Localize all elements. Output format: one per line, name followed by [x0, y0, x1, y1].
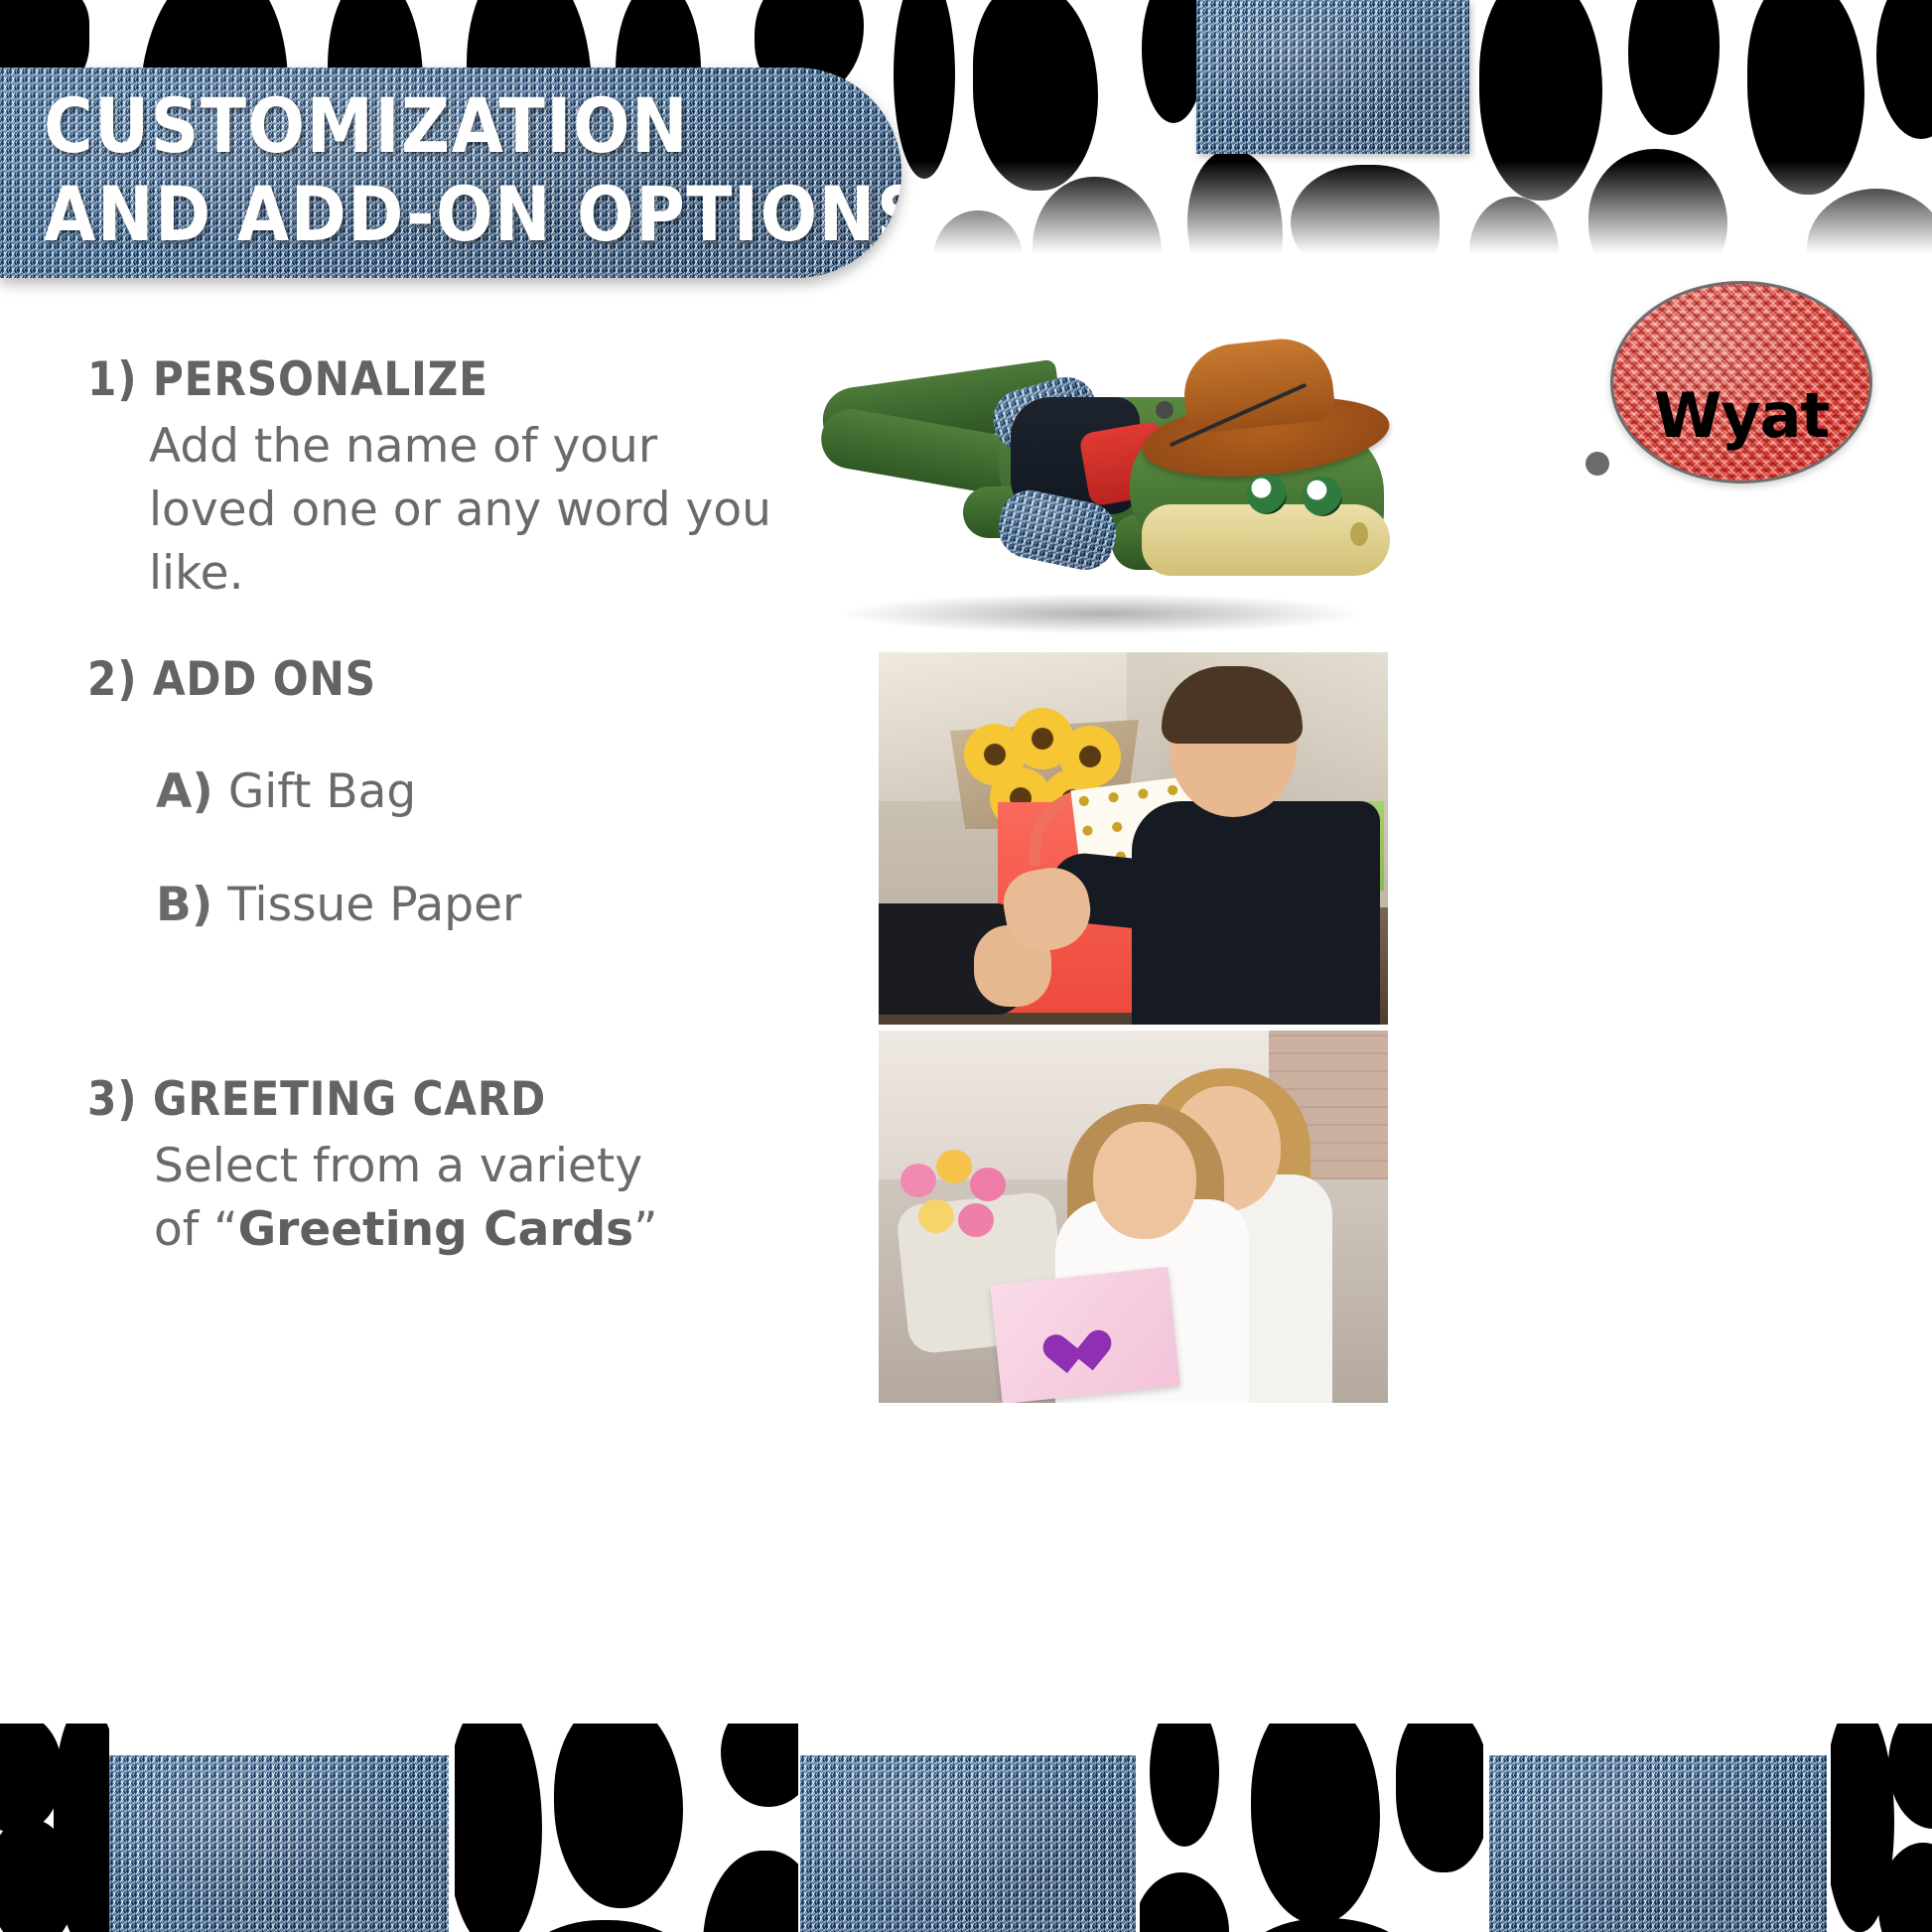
- daughter-head: [1093, 1122, 1196, 1239]
- section-3-body-line2: of “Greeting Cards”: [154, 1198, 869, 1262]
- section-1-title: 1) PERSONALIZE: [87, 352, 488, 407]
- section-3-body-line2-prefix: of “: [154, 1202, 238, 1257]
- gift-bag-photo: [879, 652, 1388, 1025]
- badge-pointer-dot: [1586, 452, 1609, 476]
- header-title: CUSTOMIZATION AND ADD-ON OPTIONS: [44, 81, 874, 258]
- section-3-body-line2-bold: Greeting Cards: [238, 1202, 634, 1257]
- bottom-cow-panel-1: [0, 1724, 109, 1932]
- plush-nostril: [1350, 522, 1368, 546]
- bottom-border: [0, 1724, 1932, 1932]
- section-3-body-line2-suffix: ”: [633, 1202, 657, 1257]
- addon-item-tissue-paper-label: Tissue Paper: [227, 878, 521, 932]
- section-1-body-line2: loved one or any word you like.: [149, 479, 864, 606]
- section-2-title: 2) ADD ONS: [87, 652, 376, 707]
- hat-cord-bead: [1156, 401, 1173, 419]
- section-1-body-line1: Add the name of your: [149, 415, 864, 479]
- addon-item-tissue-paper: B) Tissue Paper: [156, 878, 521, 932]
- tulip: [918, 1199, 954, 1233]
- bottom-denim-panel-2: [800, 1755, 1136, 1932]
- plush-shadow: [844, 594, 1360, 633]
- personalized-name-text: Wyat: [1654, 385, 1829, 481]
- bottom-denim-panel-1: [109, 1755, 449, 1932]
- bottom-cow-panel-3: [1140, 1724, 1483, 1932]
- header-title-line1: CUSTOMIZATION: [44, 81, 874, 170]
- addon-item-tissue-paper-letter: B): [156, 878, 212, 932]
- section-3-body: Select from a variety of “Greeting Cards…: [154, 1135, 869, 1262]
- heart-icon: [1053, 1332, 1103, 1379]
- bottom-cow-panel-2: [455, 1724, 798, 1932]
- header-banner: CUSTOMIZATION AND ADD-ON OPTIONS: [0, 68, 901, 278]
- personalized-name-badge: Wyat: [1610, 281, 1872, 483]
- top-denim-swatch: [1196, 0, 1469, 154]
- greeting-card-photo: [879, 1031, 1388, 1403]
- section-3-body-line1: Select from a variety: [154, 1135, 869, 1198]
- tulip: [936, 1150, 972, 1183]
- infographic-canvas: CUSTOMIZATION AND ADD-ON OPTIONS 1) PERS…: [0, 0, 1932, 1932]
- cowboy-hat-crown: [1179, 334, 1336, 434]
- section-1-body: Add the name of your loved one or any wo…: [149, 415, 864, 606]
- tulip-bouquet: [893, 1148, 1020, 1255]
- addon-item-gift-bag-letter: A): [156, 764, 213, 819]
- plush-alligator-photo: [814, 328, 1410, 635]
- tulip: [900, 1164, 936, 1197]
- header-title-line2: AND ADD-ON OPTIONS: [44, 170, 874, 258]
- addon-item-gift-bag-label: Gift Bag: [228, 764, 416, 819]
- plush-eye-right: [1303, 477, 1342, 516]
- tulip: [958, 1203, 994, 1237]
- section-3-title: 3) GREETING CARD: [87, 1072, 546, 1127]
- bottom-denim-panel-3: [1489, 1755, 1827, 1932]
- bottom-cow-panel-4: [1831, 1724, 1932, 1932]
- plush-eye-left: [1247, 475, 1287, 514]
- tulip: [970, 1168, 1006, 1201]
- pink-greeting-card: [990, 1267, 1180, 1403]
- addon-item-gift-bag: A) Gift Bag: [156, 764, 416, 819]
